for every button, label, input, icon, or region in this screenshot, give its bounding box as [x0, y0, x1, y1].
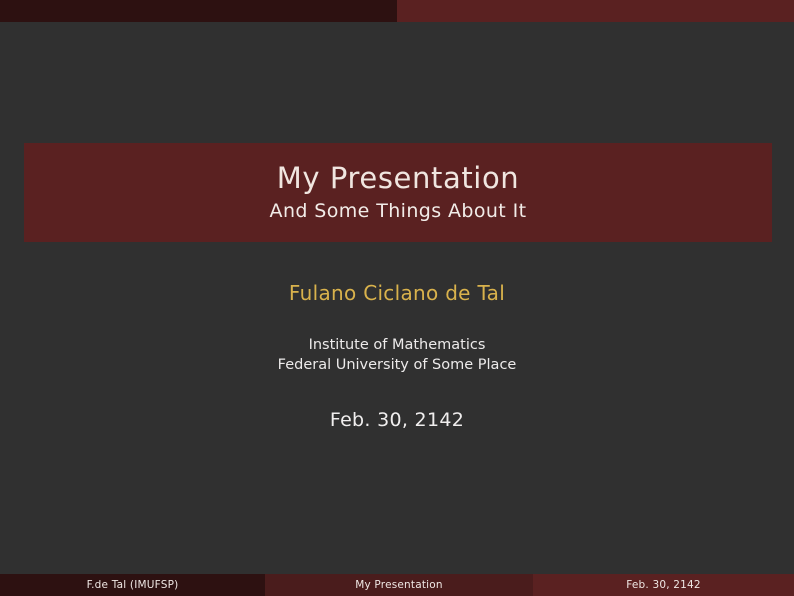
presentation-subtitle: And Some Things About It [270, 201, 527, 223]
institute-block: Institute of Mathematics Federal Univers… [0, 335, 794, 375]
title-block: My Presentation And Some Things About It [24, 143, 772, 242]
presentation-slide: My Presentation And Some Things About It… [0, 0, 794, 596]
header-bar-right-segment [397, 0, 794, 22]
author-name: Fulano Ciclano de Tal [0, 281, 794, 305]
presentation-date: Feb. 30, 2142 [0, 409, 794, 431]
institute-line-2: Federal University of Some Place [0, 355, 794, 375]
footer-date: Feb. 30, 2142 [533, 574, 794, 596]
slide-footer-bar: F.de Tal (IMUFSP) My Presentation Feb. 3… [0, 574, 794, 596]
institute-line-1: Institute of Mathematics [0, 335, 794, 355]
footer-author: F.de Tal (IMUFSP) [0, 574, 265, 596]
presentation-title: My Presentation [277, 163, 520, 195]
footer-title: My Presentation [265, 574, 533, 596]
header-bar-left-segment [0, 0, 397, 22]
slide-header-bar [0, 0, 794, 22]
